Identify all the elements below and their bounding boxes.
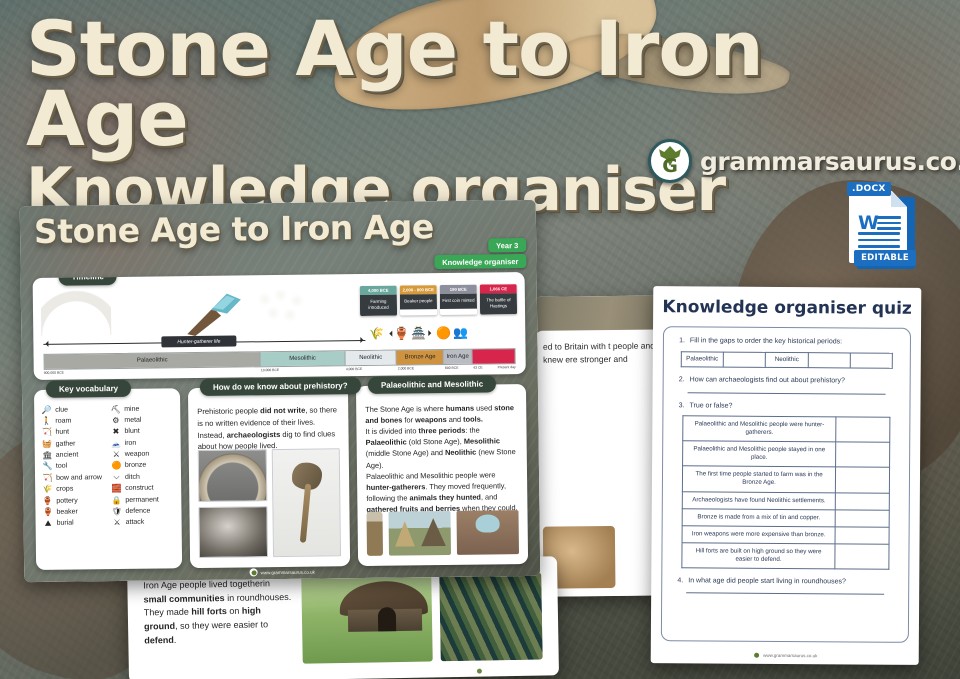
page-banner: Stone Age to Iron Age Knowledge organise… — [26, 14, 936, 220]
true-false-statement: Iron weapons were more expensive than br… — [682, 525, 835, 543]
true-false-answer-cell[interactable] — [835, 492, 889, 509]
vocabulary-word: blunt — [124, 428, 139, 435]
q2-text: How can archaeologists find out about pr… — [690, 376, 900, 387]
true-false-answer-cell[interactable] — [835, 527, 889, 544]
ko-footer: www.grammarsaurus.co.uk — [250, 568, 315, 577]
lock-icon: 🔒 — [111, 495, 122, 504]
vocabulary-word: ditch — [125, 473, 140, 480]
table-row[interactable]: Bronze is made from a mix of tin and cop… — [682, 508, 889, 527]
vocabulary-item: ✖blunt — [110, 427, 175, 437]
vocabulary-item: ⛏mine — [110, 404, 175, 414]
vocabulary-word: roam — [55, 418, 71, 425]
timeline-event-label: Farming introduced — [360, 295, 397, 316]
timeline-event-label: The battle of Hastings — [480, 293, 517, 314]
vocabulary-word: construct — [125, 485, 153, 492]
attack-icon: ⚔ — [112, 518, 123, 527]
timeline-event-date: 2,000 - 800 BCE — [400, 285, 437, 295]
true-false-statement: Hill forts are built on high ground so t… — [682, 543, 835, 569]
vocabulary-word: permanent — [125, 496, 159, 503]
timeline-period-segment: Palaeolithic — [45, 352, 261, 369]
tool-icon: 🔧 — [42, 462, 53, 471]
quiz-question-3: 3. True or false? — [673, 401, 899, 412]
vocabulary-word: gather — [56, 440, 76, 447]
quiz-page-card[interactable]: Knowledge organiser quiz 1. Fill in the … — [651, 286, 922, 665]
brand-letter: G — [651, 155, 689, 177]
knowledge-organiser-card[interactable]: Stone Age to Iron Age Year 3 Knowledge o… — [20, 200, 541, 582]
timeline-scale-label: Present day — [498, 365, 516, 369]
quiz-question-4: 4. In what age did people start living i… — [672, 576, 898, 587]
stone-axe-photo — [271, 448, 341, 557]
vocabulary-word: crops — [56, 486, 73, 493]
q2-number: 2. — [674, 376, 685, 386]
timeline-event-date: 4,000 BCE — [360, 286, 397, 296]
bow-icon: 🏹 — [41, 428, 52, 437]
burial-icon: ⛰ — [43, 519, 54, 529]
quiz-question-1: 1. Fill in the gaps to order the key his… — [674, 336, 900, 347]
vocabulary-word: burial — [57, 520, 74, 527]
timeline-event-date: 190 BCE — [440, 285, 477, 295]
true-false-answer-cell[interactable] — [836, 467, 890, 492]
ko-title: Stone Age to Iron Age — [34, 207, 434, 251]
vocabulary-item: 🔧tool — [42, 461, 107, 471]
vocabulary-word: bow and arrow — [56, 474, 102, 482]
docx-editable-badge: W EDITABLE .DOCX — [849, 191, 921, 271]
vocabulary-item: 🌾crops — [42, 484, 107, 494]
vocabulary-item: ⚔attack — [112, 517, 177, 528]
prehistory-photo-column-left — [198, 449, 268, 558]
prehistory-photos — [198, 448, 341, 558]
timeline-scale-label: 900,000 BCE — [44, 371, 64, 375]
true-false-answer-cell[interactable] — [835, 509, 889, 526]
vocabulary-item: 🔒permanent — [111, 495, 176, 505]
format-label: .DOCX — [847, 182, 891, 196]
timeline-events: 4,000 BCEFarming introduced2,000 - 800 B… — [360, 284, 517, 316]
iron-age-paragraph: Iron Age people lived togetherin small c… — [143, 577, 294, 667]
bronze-icon: 🟠 — [111, 461, 122, 470]
vocabulary-item: 🏹bow and arrow — [42, 472, 107, 483]
word-letter: W — [858, 214, 879, 233]
vocabulary-item: ⌵ditch — [111, 471, 176, 482]
vocabulary-item: 🧺gather — [42, 439, 107, 449]
vocabulary-item: ⚔weapon — [111, 449, 176, 459]
column-icon: 🏛 — [42, 451, 53, 460]
vocabulary-item: 🧱construct — [111, 484, 176, 494]
prehistory-photo-column-right — [271, 448, 341, 557]
walking-icon: 🚶 — [41, 417, 52, 426]
necklace-photo — [198, 449, 267, 501]
true-false-answer-cell[interactable] — [836, 417, 890, 442]
magnifier-icon: 🔎 — [41, 406, 52, 415]
vocabulary-item: 🚶roam — [41, 416, 106, 426]
q4-answer-line[interactable] — [686, 593, 884, 595]
wheat-icon: 🌾 — [42, 485, 53, 494]
table-row[interactable]: Iron weapons were more expensive than br… — [682, 525, 889, 544]
vocabulary-item: 🛡defence — [111, 506, 176, 516]
q3-true-false-table[interactable]: Palaeolithic and Mesolithic people were … — [681, 415, 890, 569]
brand-logo[interactable]: G grammarsaurus.co.uk — [648, 139, 960, 183]
prehistory-heading: How do we know about prehistory? — [200, 377, 361, 396]
vocabulary-item: ⚙metal — [110, 415, 175, 425]
timeline-scale-label: 43 CE — [473, 366, 482, 370]
grammarsaurus-mark: G — [648, 139, 692, 183]
q1-period-cell[interactable] — [808, 353, 850, 368]
timeline-scale-label: 4,000 BCE — [346, 367, 362, 371]
q3-number: 3. — [673, 401, 684, 411]
vocabulary-item: 🏛ancient — [42, 450, 107, 460]
timeline-scale-label: 800 BCE — [445, 366, 459, 370]
vocabulary-word: pottery — [56, 497, 77, 504]
vocabulary-item: 🏹hunt — [41, 427, 106, 437]
prehistory-paragraph: Prehistoric people did not write, so the… — [197, 404, 340, 453]
key-vocabulary-list: 🔎clue⛏mine🚶roam⚙metal🏹hunt✖blunt🧺gather🗻… — [41, 404, 176, 529]
vocabulary-word: attack — [126, 519, 145, 526]
true-false-statement: Archaeologists have found Neolithic sett… — [682, 491, 835, 509]
vocabulary-item: 🏺beaker — [42, 507, 107, 517]
pottery-icon: 🏺 — [42, 496, 53, 505]
vocabulary-item: 🏺pottery — [42, 496, 107, 506]
footer-url: www.grammarsaurus.co.uk — [487, 666, 547, 673]
docx-text-lines-icon-2 — [858, 232, 900, 252]
true-false-statement: Bronze is made from a mix of tin and cop… — [682, 508, 835, 526]
flint-photo — [198, 506, 267, 558]
beaker-pot-icon: 🏺 — [394, 327, 409, 339]
table-row[interactable]: The first time people started to farm wa… — [682, 466, 889, 493]
year-badge: Year 3 — [488, 238, 526, 252]
necklace-decoration-icon — [41, 283, 112, 336]
hillfort-aerial-photo — [439, 573, 543, 662]
table-row[interactable]: PalaeolithicNeolithic — [681, 352, 893, 368]
q3-text: True or false? — [689, 401, 899, 412]
key-vocabulary-heading: Key vocabulary — [46, 380, 131, 398]
timeline-event: 4,000 BCEFarming introduced — [360, 286, 397, 317]
vocabulary-item: 🔎clue — [41, 405, 106, 415]
timeline-period-segment — [472, 349, 514, 364]
table-row[interactable]: Palaeolithic and Mesolithic people staye… — [683, 441, 890, 468]
beaker-icon: 🏺 — [42, 507, 53, 516]
timeline-event: 2,000 - 800 BCEBeaker people — [400, 285, 437, 316]
timeline-panel: Timeline 4,000 BCEFarming introduced2,00… — [33, 272, 526, 380]
table-row[interactable]: Palaeolithic and Mesolithic people were … — [683, 416, 890, 443]
page-title: Stone Age to Iron Age — [26, 14, 936, 154]
vocabulary-word: weapon — [125, 450, 150, 457]
spear-illustration — [183, 289, 246, 336]
timeline-event: 190 BCEFirst coin minted — [440, 285, 477, 316]
iron-age-panel: Iron Age people lived togetherin small c… — [135, 564, 551, 674]
hillfort-icon: 🏯 — [411, 327, 426, 339]
q4-text: In what age did people start living in r… — [688, 576, 898, 587]
blunt-icon: ✖ — [110, 427, 121, 436]
quiz-question-2: 2. How can archaeologists find out about… — [674, 376, 900, 387]
q1-text: Fill in the gaps to order the key histor… — [690, 336, 900, 347]
q1-period-cell[interactable]: Neolithic — [766, 353, 808, 368]
iron-ore-icon: 🗻 — [111, 439, 122, 448]
coin-icon: 🟠 — [436, 327, 451, 339]
timeline-period-segment: Mesolithic — [261, 351, 346, 366]
quiz-title: Knowledge organiser quiz — [653, 297, 921, 319]
quiz-frame: 1. Fill in the gaps to order the key his… — [661, 326, 911, 643]
shield-icon: 🛡 — [111, 507, 122, 516]
hunter-gatherer-label: Hunter-gatherer life — [161, 336, 236, 348]
prehistory-panel: How do we know about prehistory? Prehist… — [188, 386, 350, 568]
vocabulary-word: beaker — [56, 508, 77, 515]
palaeolithic-mesolithic-panel: Palaeolithic and Mesolithic The Stone Ag… — [356, 384, 528, 566]
timeline-event-date: 1,066 CE — [480, 284, 517, 294]
timeline-event-label: Beaker people — [400, 294, 437, 309]
vocabulary-word: bronze — [125, 462, 146, 469]
q1-period-cell[interactable] — [723, 352, 765, 367]
key-vocabulary-panel: Key vocabulary 🔎clue⛏mine🚶roam⚙metal🏹hun… — [34, 388, 182, 570]
basket-icon: 🧺 — [42, 439, 53, 448]
metal-icon: ⚙ — [110, 416, 121, 425]
ditch-icon: ⌵ — [111, 472, 122, 482]
weapon-icon: ⚔ — [111, 450, 122, 459]
true-false-answer-cell[interactable] — [836, 442, 890, 467]
vocabulary-word: clue — [55, 407, 68, 414]
timeline-scale-label: 10,000 BCE — [261, 368, 279, 372]
q1-period-cell[interactable]: Palaeolithic — [681, 352, 723, 367]
archery-icon: 🏹 — [42, 473, 53, 482]
q1-number: 1. — [674, 336, 685, 346]
neolithic-village-illustration — [388, 511, 451, 556]
quiz-footer: www.grammarsaurus.co.uk — [752, 651, 817, 659]
timeline-event-label: First coin minted — [440, 294, 477, 309]
bone-tool-illustration — [366, 512, 383, 556]
true-false-statement: Palaeolithic and Mesolithic people staye… — [683, 441, 836, 467]
q1-period-cell[interactable] — [850, 353, 892, 368]
timeline-period-segment: Bronze Age — [397, 350, 444, 365]
vocabulary-word: iron — [125, 439, 137, 446]
table-row[interactable]: Hill forts are built on high ground so t… — [682, 543, 889, 570]
table-row[interactable]: Archaeologists have found Neolithic sett… — [682, 491, 889, 510]
vocabulary-word: metal — [124, 417, 141, 424]
timeline-era-icons: 🌾 🏺 🏯 🟠 👥 — [369, 327, 468, 340]
timeline-period-segment: Iron Age — [444, 350, 472, 364]
resource-type-badge: Knowledge organiser — [434, 254, 526, 269]
timeline-scale-label: 2,000 BCE — [398, 366, 414, 370]
vocabulary-word: hunt — [55, 429, 69, 436]
roundhouse-photo — [301, 574, 432, 663]
vocabulary-item: ⛰burial — [43, 518, 108, 529]
editable-label: EDITABLE — [854, 250, 916, 266]
cave-dwelling-illustration — [456, 510, 519, 555]
wheat-icon: 🌾 — [369, 328, 384, 340]
palaeolithic-illustrations — [366, 506, 519, 556]
vocabulary-word: defence — [125, 507, 150, 514]
true-false-statement: The first time people started to farm wa… — [682, 466, 835, 492]
true-false-answer-cell[interactable] — [835, 544, 889, 569]
vocabulary-word: tool — [56, 463, 67, 470]
mine-icon: ⛏ — [110, 405, 121, 414]
palaeolithic-heading: Palaeolithic and Mesolithic — [368, 375, 496, 394]
arrow-right-icon — [428, 330, 434, 336]
timeline-event: 1,066 CEThe battle of Hastings — [480, 284, 517, 315]
footer-url: www.grammarsaurus.co.uk — [763, 652, 817, 657]
vocabulary-word: mine — [124, 406, 139, 413]
brand-name: grammarsaurus.co.uk — [700, 147, 960, 176]
berries-decoration-icon — [253, 289, 315, 330]
vocabulary-word: ancient — [56, 451, 79, 458]
grammarsaurus-dot-icon — [476, 667, 484, 675]
true-false-statement: Palaeolithic and Mesolithic people were … — [683, 416, 836, 442]
docx-text-lines-icon — [877, 216, 901, 233]
palaeolithic-paragraph: The Stone Age is where humans used stone… — [365, 402, 518, 515]
build-icon: 🧱 — [111, 484, 122, 493]
q1-periods-table[interactable]: PalaeolithicNeolithic — [681, 352, 894, 369]
arrow-left-icon — [386, 331, 392, 337]
timeline-period-segment: Neolithic — [345, 351, 397, 366]
roundhouse-door — [378, 607, 396, 631]
grammarsaurus-dot-icon — [752, 651, 760, 659]
vocabulary-item: 🟠bronze — [111, 460, 176, 470]
grammarsaurus-dot-icon — [250, 568, 258, 576]
footer-url: www.grammarsaurus.co.uk — [261, 569, 315, 575]
people-icon: 👥 — [453, 327, 468, 339]
q4-number: 4. — [672, 576, 683, 586]
vocabulary-item: 🗻iron — [111, 438, 176, 448]
iron-card-footer: www.grammarsaurus.co.uk — [476, 665, 547, 674]
